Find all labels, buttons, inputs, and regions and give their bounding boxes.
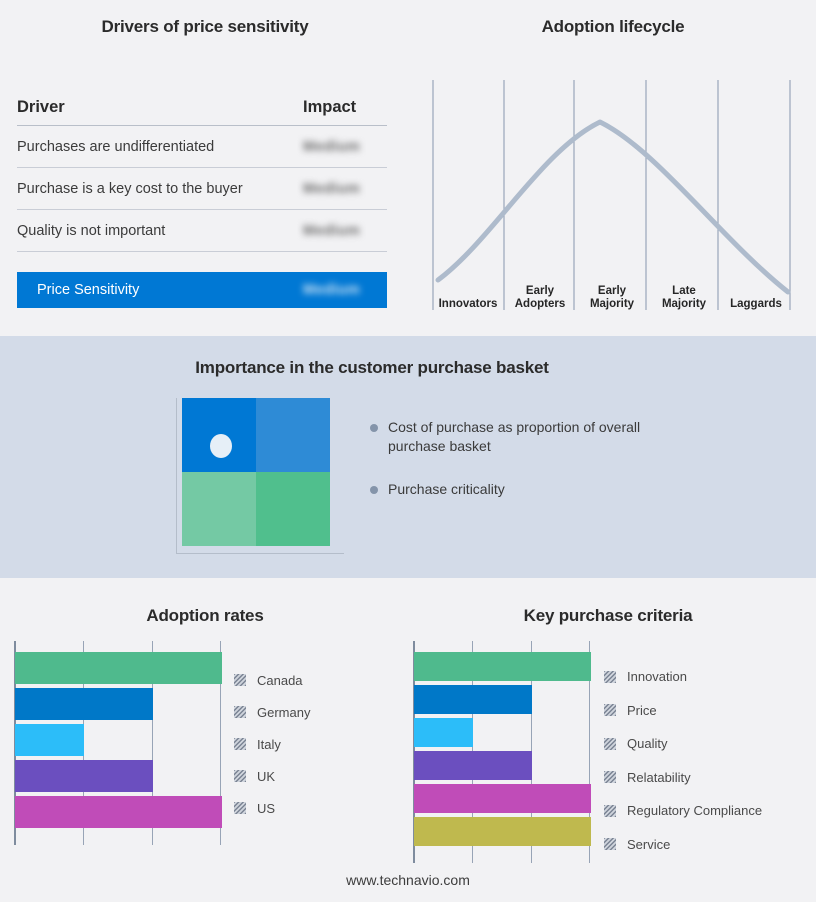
bar-germany — [15, 688, 153, 720]
table-row: Purchase is a key cost to the buyer Medi… — [17, 168, 387, 210]
bar-regulatory-compliance — [414, 784, 591, 813]
drivers-table: Driver Impact Purchases are undifferenti… — [17, 90, 387, 252]
hatch-swatch-icon — [604, 838, 616, 850]
quadrant-x-axis — [176, 553, 344, 554]
hatch-swatch-icon — [234, 674, 246, 686]
lifecycle-title: Adoption lifecycle — [410, 17, 816, 37]
bar-row — [414, 652, 591, 681]
infographic-page: Drivers of price sensitivity Driver Impa… — [0, 0, 816, 902]
bar-row — [15, 760, 222, 792]
hatch-swatch-icon — [604, 671, 616, 683]
adoption-rates-plot — [14, 641, 222, 845]
legend-label: Regulatory Compliance — [627, 803, 762, 818]
stage-line-1: Early — [526, 285, 554, 298]
bar-italy — [15, 724, 84, 756]
key-purchase-criteria-legend: Innovation Price Quality Relatability Re… — [604, 660, 762, 861]
bar-row — [414, 784, 591, 813]
lifecycle-panel: Adoption lifecycle Innovators — [410, 0, 816, 336]
key-purchase-criteria-plot — [413, 641, 591, 863]
legend-item: Italy — [234, 728, 310, 760]
table-row: Purchases are undifferentiated Medium — [17, 126, 387, 168]
bar-us — [15, 796, 222, 828]
hatch-swatch-icon — [234, 706, 246, 718]
lifecycle-stage-innovators: Innovators — [432, 272, 504, 312]
stage-line-2: Adopters — [515, 298, 565, 311]
drivers-title: Drivers of price sensitivity — [0, 17, 410, 37]
price-sensitivity-highlight-row: Price Sensitivity Medium — [17, 272, 387, 308]
lifecycle-stage-early-majority: Early Majority — [576, 272, 648, 312]
bar-relatability — [414, 751, 532, 780]
bullet-dot-icon — [370, 424, 378, 432]
legend-item: Service — [604, 828, 762, 862]
footer-url: www.technavio.com — [0, 872, 816, 888]
bar-service — [414, 817, 591, 846]
bar-row — [15, 724, 222, 756]
quadrant-grid — [182, 398, 330, 546]
legend-item: Quality — [604, 727, 762, 761]
bar-price — [414, 685, 532, 714]
drivers-panel: Drivers of price sensitivity Driver Impa… — [0, 0, 410, 336]
legend-label: Quality — [627, 736, 667, 751]
table-row: Quality is not important Medium — [17, 210, 387, 252]
quadrant-cell-bottom-right — [256, 472, 330, 546]
legend-label: Canada — [257, 673, 303, 688]
basket-title: Importance in the customer purchase bask… — [0, 358, 744, 378]
quadrant-chart — [168, 398, 348, 566]
stage-line-2: Majority — [590, 298, 634, 311]
lifecycle-stage-late-majority: Late Majority — [648, 272, 720, 312]
hatch-swatch-icon — [604, 704, 616, 716]
driver-label: Purchases are undifferentiated — [17, 139, 303, 155]
legend-item-cost-of-purchase: Cost of purchase as proportion of overal… — [370, 418, 700, 456]
quadrant-cell-top-right — [256, 398, 330, 472]
bars-area — [15, 652, 222, 834]
adoption-bell-curve — [438, 122, 788, 292]
impact-value: Medium — [303, 181, 387, 197]
price-sensitivity-impact: Medium — [303, 282, 387, 298]
hatch-swatch-icon — [604, 738, 616, 750]
legend-label: Italy — [257, 737, 281, 752]
bar-row — [15, 652, 222, 684]
lifecycle-stage-early-adopters: Early Adopters — [504, 272, 576, 312]
lifecycle-stage-laggards: Laggards — [720, 272, 792, 312]
column-header-impact: Impact — [303, 98, 387, 117]
quadrant-cell-bottom-left — [182, 472, 256, 546]
legend-label: Purchase criticality — [388, 480, 505, 499]
legend-label: Relatability — [627, 770, 691, 785]
key-purchase-criteria-title: Key purchase criteria — [400, 606, 816, 626]
legend-label: US — [257, 801, 275, 816]
bar-row — [15, 688, 222, 720]
legend-label: UK — [257, 769, 275, 784]
legend-item: Innovation — [604, 660, 762, 694]
stage-line-2: Innovators — [439, 298, 498, 311]
bar-row — [414, 751, 591, 780]
impact-value: Medium — [303, 139, 387, 155]
bar-row — [414, 817, 591, 846]
legend-item: Price — [604, 694, 762, 728]
column-header-driver: Driver — [17, 98, 303, 117]
legend-item: Relatability — [604, 761, 762, 795]
hatch-swatch-icon — [234, 802, 246, 814]
legend-label: Service — [627, 837, 670, 852]
legend-item: UK — [234, 760, 310, 792]
bar-row — [414, 685, 591, 714]
driver-label: Purchase is a key cost to the buyer — [17, 181, 303, 197]
legend-label: Innovation — [627, 669, 687, 684]
bullet-dot-icon — [370, 486, 378, 494]
legend-item-purchase-criticality: Purchase criticality — [370, 480, 700, 499]
quadrant-y-axis — [176, 398, 177, 554]
basket-legend: Cost of purchase as proportion of overal… — [370, 418, 700, 523]
bar-quality — [414, 718, 473, 747]
legend-item: Germany — [234, 696, 310, 728]
adoption-rates-title: Adoption rates — [0, 606, 410, 626]
hatch-swatch-icon — [234, 738, 246, 750]
quadrant-position-marker — [210, 434, 232, 458]
stage-line-2: Majority — [662, 298, 706, 311]
legend-item: US — [234, 792, 310, 824]
bar-canada — [15, 652, 222, 684]
price-sensitivity-label: Price Sensitivity — [17, 282, 303, 298]
adoption-rates-legend: Canada Germany Italy UK US — [234, 664, 310, 824]
legend-label: Germany — [257, 705, 310, 720]
lifecycle-stage-labels: Innovators Early Adopters Early Majority… — [432, 272, 792, 312]
bar-uk — [15, 760, 153, 792]
legend-item: Canada — [234, 664, 310, 696]
hatch-swatch-icon — [604, 805, 616, 817]
hatch-swatch-icon — [234, 770, 246, 782]
purchase-basket-panel: Importance in the customer purchase bask… — [0, 336, 816, 578]
legend-item: Regulatory Compliance — [604, 794, 762, 828]
bar-innovation — [414, 652, 591, 681]
legend-label: Cost of purchase as proportion of overal… — [388, 418, 658, 456]
table-header-row: Driver Impact — [17, 90, 387, 126]
stage-line-1: Late — [672, 285, 696, 298]
stage-line-1: Early — [598, 285, 626, 298]
legend-label: Price — [627, 703, 657, 718]
bar-row — [414, 718, 591, 747]
bar-row — [15, 796, 222, 828]
bars-area — [414, 652, 591, 854]
hatch-swatch-icon — [604, 771, 616, 783]
stage-line-2: Laggards — [730, 298, 782, 311]
driver-label: Quality is not important — [17, 223, 303, 239]
impact-value: Medium — [303, 223, 387, 239]
